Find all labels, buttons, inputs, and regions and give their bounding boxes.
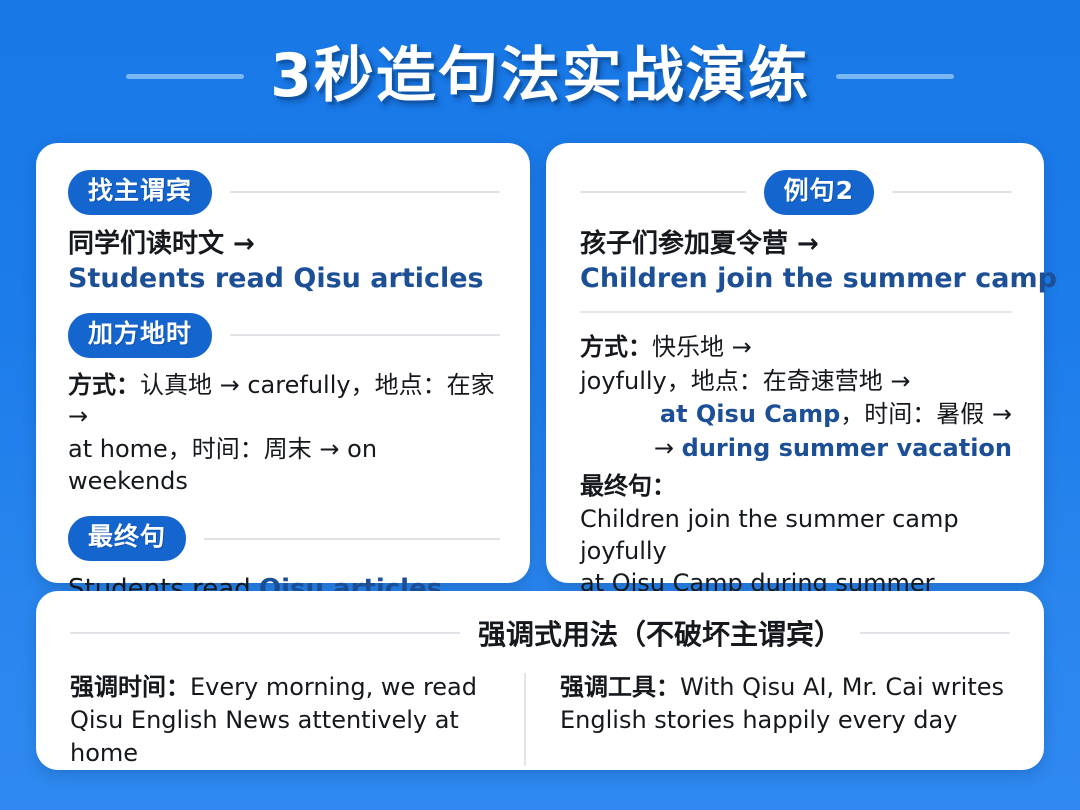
left-example-card: 找主谓宾 同学们读时文 → Students read Qisu article… [36,143,530,583]
emphasis-left-rule-icon [70,632,460,634]
emphasis-time-text-1: Every morning, we read [190,673,477,701]
emphasis-time-line-1: 强调时间：Every morning, we read [70,671,524,704]
step-1-header: 找主谓宾 [68,170,500,215]
example-2-final-line-1: Children join the summer camp joyfully [580,504,1012,568]
emphasis-time-label: 强调时间： [70,673,190,701]
badge-final-sentence[interactable]: 最终句 [68,516,186,561]
emphasis-usage-card: 强调式用法（不破坏主谓宾） 强调时间：Every morning, we rea… [36,591,1044,770]
step-1-rule-icon [230,191,500,193]
emphasis-tool-label: 强调工具： [560,673,680,701]
example-2-manner-label: 方式： [580,333,652,361]
page-header: 3秒造句法实战演练 [0,30,1080,122]
emphasis-tool-text-1: With Qisu AI, Mr. Cai writes [680,673,1004,701]
example-2-arrow-icon: → [654,434,682,462]
emphasis-tool-line-1: 强调工具：With Qisu AI, Mr. Cai writes [560,671,1014,704]
step-2-detail-line-2: at home，时间：周末 → on weekends [68,434,500,497]
emphasis-columns: 强调时间：Every morning, we read Qisu English… [36,653,1044,770]
example-2-detail-line-3: at Qisu Camp，时间：暑假 → [580,398,1012,431]
example-2-divider [580,311,1012,313]
step-1-english-sentence: Students read Qisu articles [68,262,500,296]
example-2-chinese-sentence: 孩子们参加夏令营 → [580,228,1012,261]
example-2-time-highlight: during summer vacation [682,434,1012,462]
step-2-detail-line-1: 方式：认真地 → carefully，地点：在家 → [68,370,500,433]
right-example-card: 例句2 孩子们参加夏令营 → Children join the summer … [546,143,1044,583]
page-title: 3秒造句法实战演练 [270,46,810,106]
emphasis-title: 强调式用法（不破坏主谓宾） [478,613,842,653]
step-2-header: 加方地时 [68,313,500,358]
right-card-body: 例句2 孩子们参加夏令营 → Children join the summer … [546,143,1044,631]
header-right-rule-icon [836,74,954,79]
example-2-detail-line-2: joyfully，地点：在奇速营地 → [580,365,1012,398]
poster-root: 3秒造句法实战演练 找主谓宾 同学们读时文 → Students read Qi… [0,0,1080,810]
badge-add-manner-place-time[interactable]: 加方地时 [68,313,212,358]
example-2-time-rest: ，时间：暑假 → [840,400,1012,428]
badge-find-subject-verb-object[interactable]: 找主谓宾 [68,170,212,215]
example-2-manner-rest: 快乐地 → [652,333,752,361]
step-1-chinese-sentence: 同学们读时文 → [68,228,500,261]
emphasis-column-time: 强调时间：Every morning, we read Qisu English… [70,671,524,770]
example-2-header: 例句2 [580,170,1012,215]
badge-example-2[interactable]: 例句2 [764,170,874,215]
emphasis-tool-line-2: English stories happily every day [560,704,1014,737]
step-2-rule-icon [230,334,500,336]
emphasis-column-tool: 强调工具：With Qisu AI, Mr. Cai writes Englis… [526,671,1014,770]
emphasis-time-line-2: Qisu English News attentively at home [70,704,524,770]
emphasis-right-rule-icon [860,632,1010,634]
step-3-header: 最终句 [68,516,500,561]
example-2-place-highlight: at Qisu Camp [660,400,840,428]
step-3-rule-icon [204,538,500,540]
example-2-final-label: 最终句： [580,471,1012,502]
example-2-detail-line-4: → during summer vacation [580,432,1012,465]
example-2-detail-line-1: 方式：快乐地 → [580,331,1012,364]
example-2-left-rule-icon [580,191,746,193]
example-2-right-rule-icon [892,191,1012,193]
emphasis-header: 强调式用法（不破坏主谓宾） [36,591,1044,653]
step-2-manner-label: 方式： [68,371,140,399]
header-left-rule-icon [126,74,244,79]
example-2-english-sentence: Children join the summer camp [580,262,1012,296]
